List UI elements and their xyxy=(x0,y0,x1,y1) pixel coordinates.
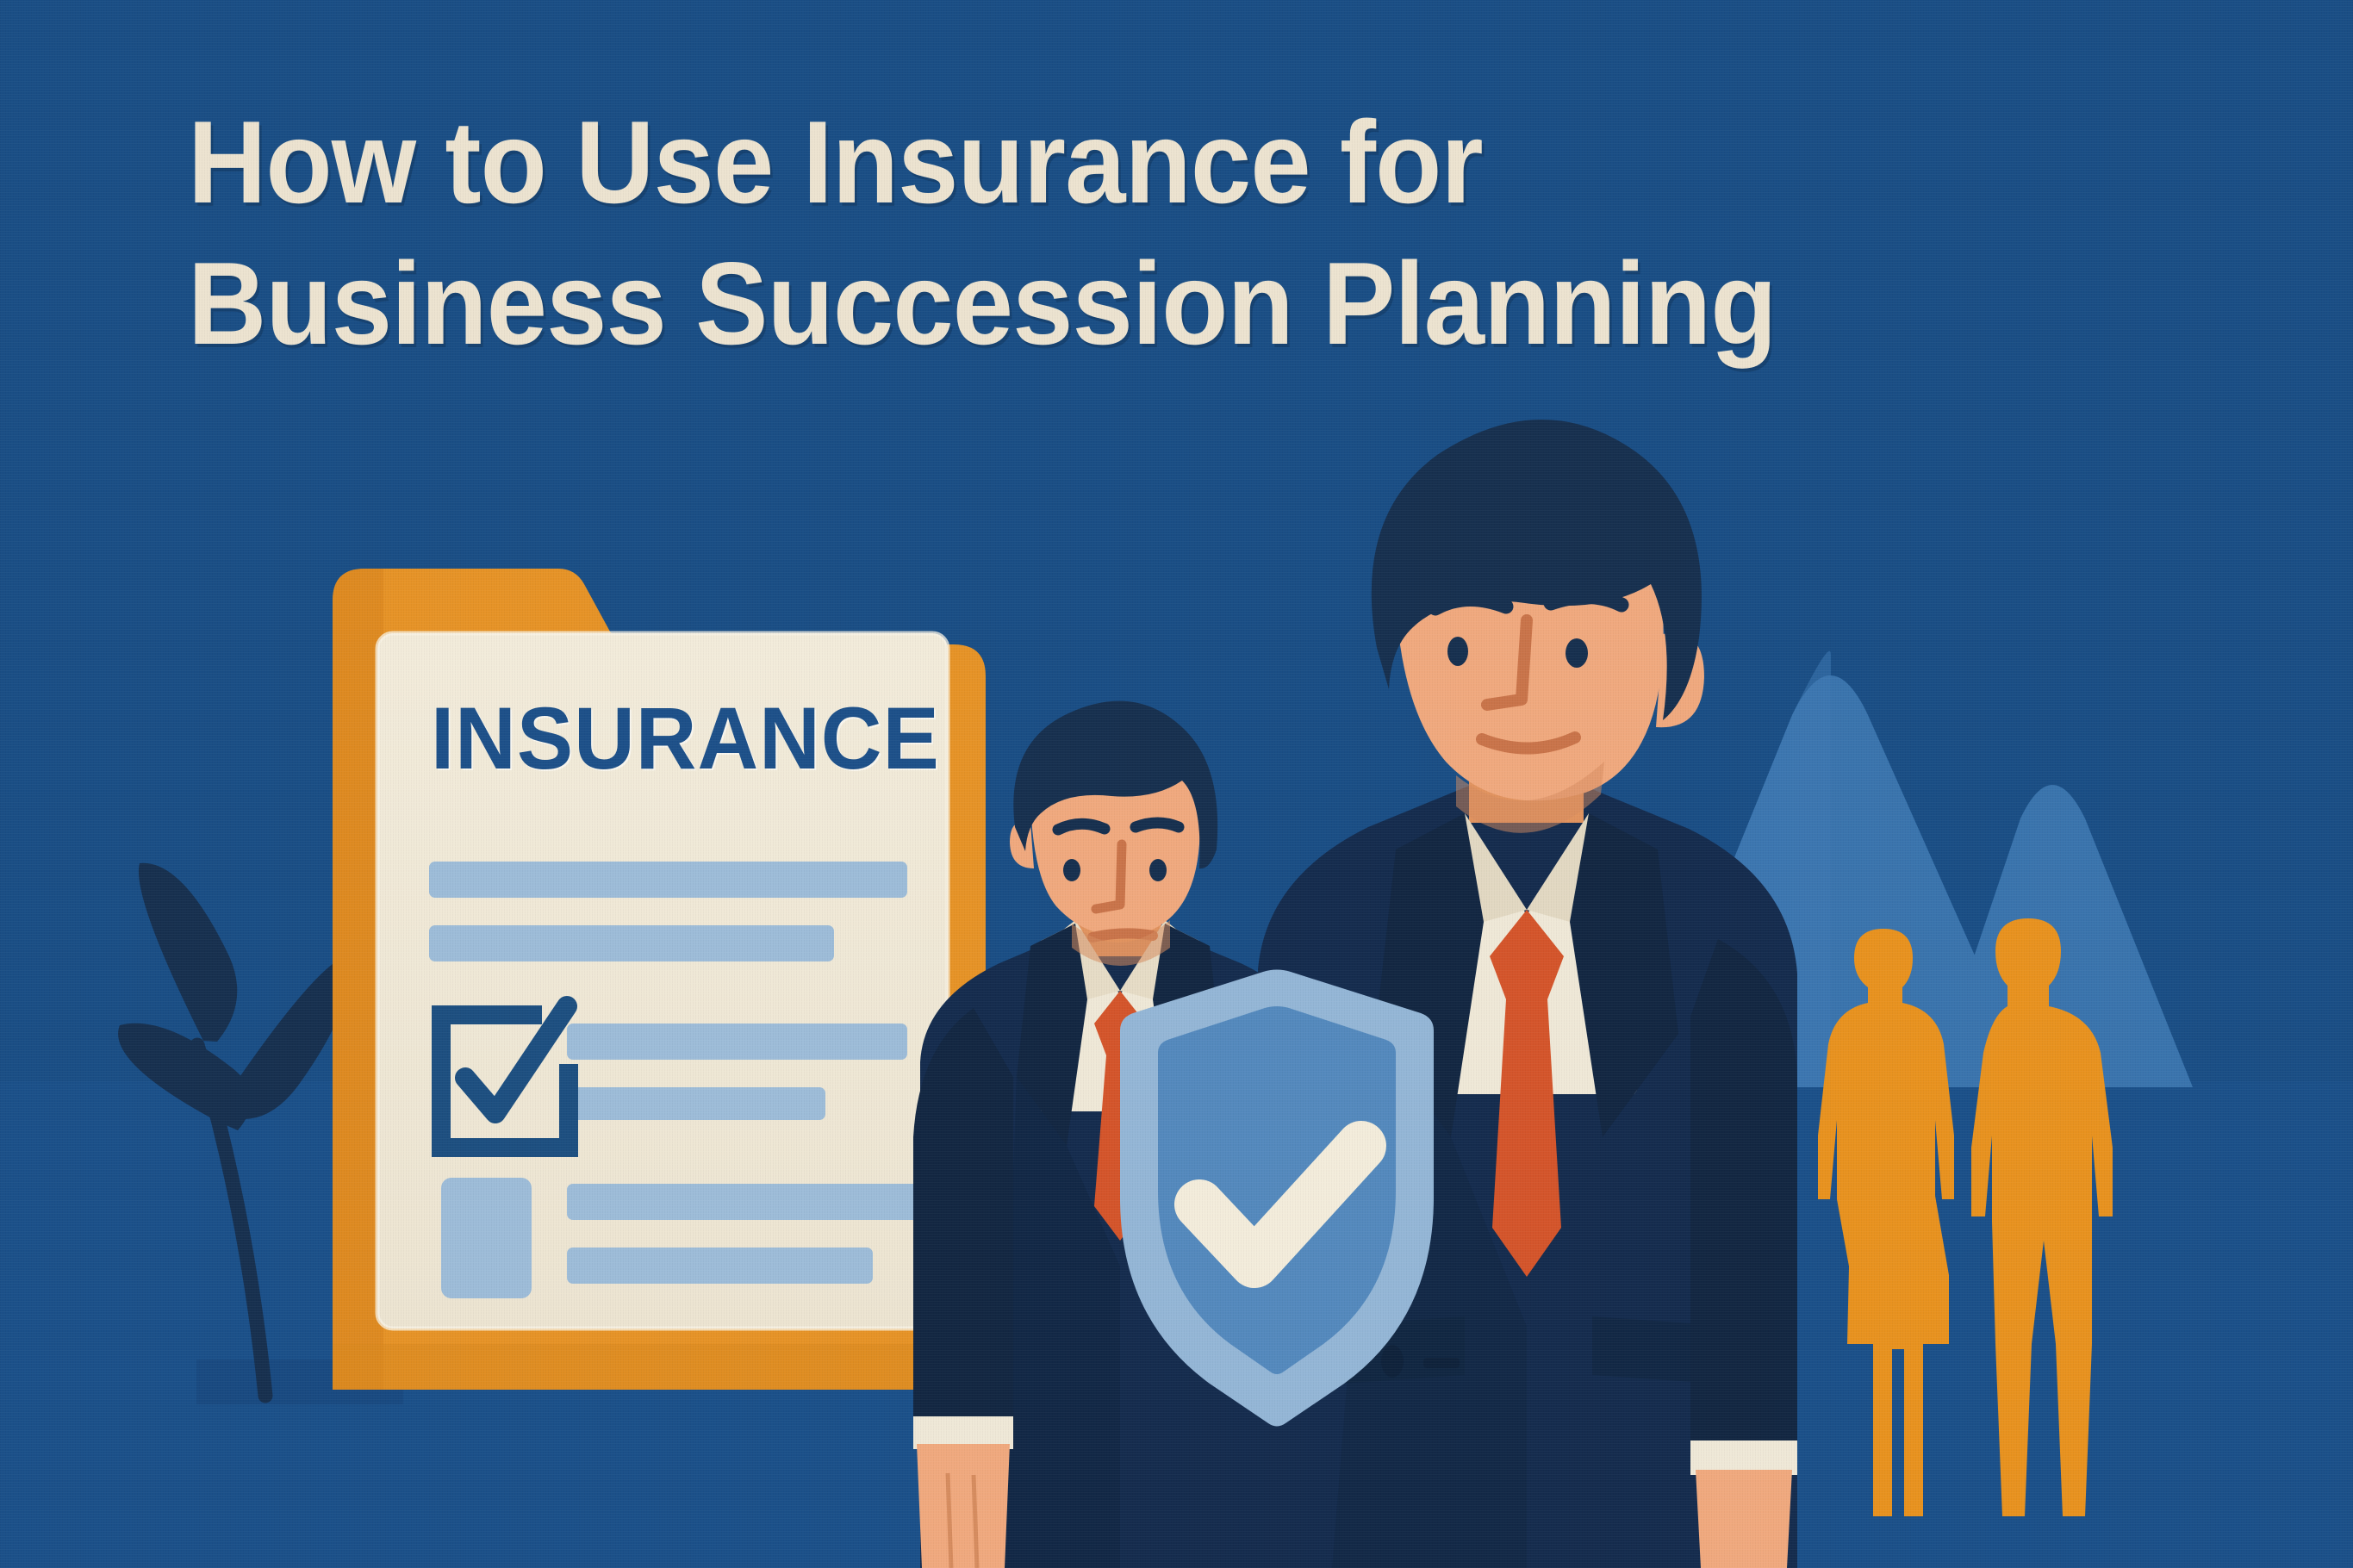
doc-line-2 xyxy=(429,925,834,961)
older-tie xyxy=(1490,910,1564,1277)
older-eyebrow-right xyxy=(1551,596,1622,605)
doc-line-5 xyxy=(567,1184,946,1220)
older-eye-left xyxy=(1447,637,1468,666)
illustration-layer xyxy=(0,0,2353,1568)
younger-eye-right xyxy=(1149,859,1167,881)
older-breast-pocket xyxy=(1423,1358,1460,1368)
younger-arm-left xyxy=(913,1008,1013,1568)
doc-line-3 xyxy=(567,1024,907,1060)
younger-eye-left xyxy=(1063,859,1080,881)
older-sleeve-right xyxy=(1690,939,1797,1456)
insurance-folder xyxy=(333,569,986,1390)
younger-eyebrow-right xyxy=(1136,823,1179,827)
doc-line-4 xyxy=(567,1087,825,1120)
older-hand-right xyxy=(1696,1470,1792,1568)
younger-sleeve-left xyxy=(913,1008,1013,1430)
younger-hand-left xyxy=(917,1444,1010,1568)
younger-mouth xyxy=(1092,933,1153,937)
doc-line-1 xyxy=(429,862,907,898)
folder-bottom-shade xyxy=(333,1344,986,1390)
older-jacket-button xyxy=(1381,1345,1404,1378)
doc-line-6 xyxy=(567,1248,873,1284)
older-eye-right xyxy=(1566,638,1588,668)
banner-canvas: How to Use Insurance for Business Succes… xyxy=(0,0,2353,1568)
younger-eyebrow-left xyxy=(1058,824,1105,830)
checkbox-unchecked-icon[interactable] xyxy=(441,1178,532,1298)
